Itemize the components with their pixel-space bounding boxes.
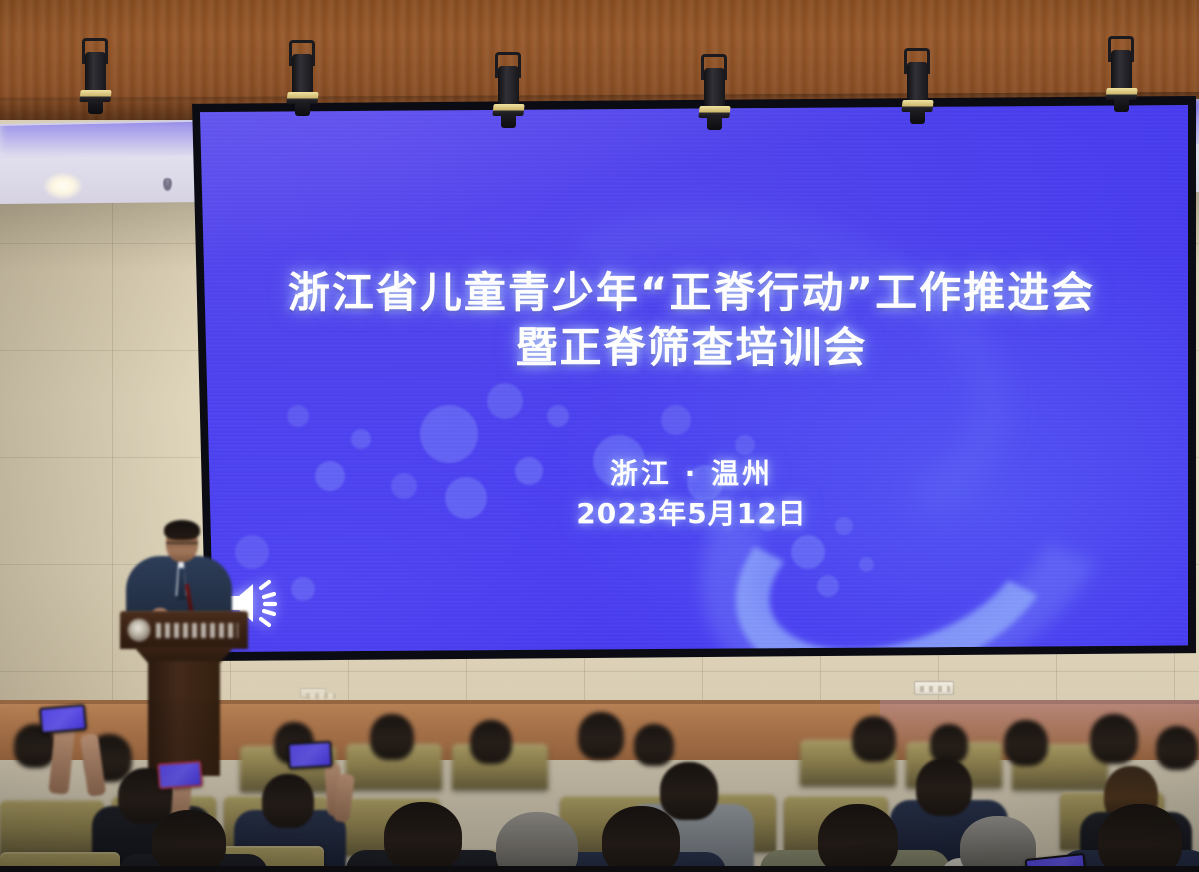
slide-title: 浙江省儿童青少年“正脊行动”工作推进会 暨正脊筛查培训会 [288,265,1095,376]
audience-head [916,758,972,816]
audience-area [0,700,1199,872]
slide-subtitle: 浙江 · 温州 2023年5月12日 [576,454,806,534]
slide-location: 浙江 · 温州 [610,457,773,490]
audience-head [1004,720,1048,766]
podium-top [120,611,248,649]
audience-head [1156,726,1198,770]
audience-phone [287,741,332,769]
seat [0,800,104,858]
led-presentation-screen: 浙江省儿童青少年“正脊行动”工作推进会 暨正脊筛查培训会 浙江 · 温州 202… [186,96,1196,661]
slide-date: 2023年5月12日 [576,494,806,534]
downlight [44,173,82,199]
presenter-glasses [166,542,198,549]
podium-nameplate-text [156,623,238,638]
audience-head [578,712,624,760]
audience-head [602,806,680,872]
wall-outlet-plate [914,681,954,695]
audience-head [470,720,512,764]
screen-surface: 浙江省儿童青少年“正脊行动”工作推进会 暨正脊筛查培训会 浙江 · 温州 202… [195,105,1188,652]
audience-phone [157,760,203,789]
presenter-hair [164,520,200,540]
audience-head [852,716,896,762]
audience-head [818,804,898,872]
photo-bottom-border [0,866,1199,872]
conference-photo-scene: 浙江省儿童青少年“正脊行动”工作推进会 暨正脊筛查培训会 浙江 · 温州 202… [0,0,1199,872]
audience-head [496,812,578,872]
audience-phone [39,704,87,734]
audience-head [1098,804,1182,872]
ceiling-sensor-icon [163,178,172,191]
podium-emblem-icon [129,620,149,640]
audience-head [384,802,462,872]
audience-head [660,762,718,820]
audience-head [1090,714,1138,764]
slide-content: 浙江省儿童青少年“正脊行动”工作推进会 暨正脊筛查培训会 浙江 · 温州 202… [195,105,1188,652]
wall-outlet-plate [300,688,326,698]
audience-head [370,714,414,760]
audience-head [634,724,674,766]
slide-title-line2: 暨正脊筛查培训会 [288,320,1095,375]
audience-head [262,774,314,828]
slide-title-line1: 浙江省儿童青少年“正脊行动”工作推进会 [288,268,1095,317]
audience-head [152,810,226,872]
